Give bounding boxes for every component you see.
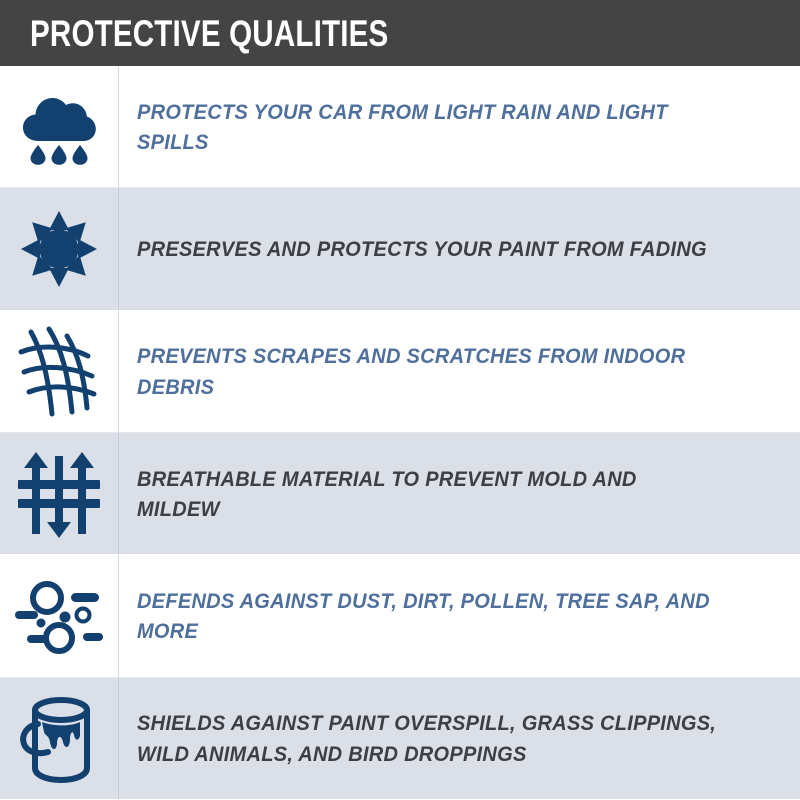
text-cell: PRESERVES AND PROTECTS YOUR PAINT FROM F… [119, 188, 800, 310]
protective-qualities-infographic: PROTECTIVE QUALITIES PROTEC [0, 0, 800, 800]
list-item: PRESERVES AND PROTECTS YOUR PAINT FROM F… [0, 188, 800, 310]
rain-cloud-icon [20, 89, 98, 165]
icon-cell [0, 678, 119, 800]
list-item: PROTECTS YOUR CAR FROM LIGHT RAIN AND LI… [0, 66, 800, 188]
icon-cell [0, 555, 119, 677]
icon-cell [0, 433, 119, 555]
breathability-arrows-icon [16, 450, 102, 538]
feature-text: SHIELDS AGAINST PAINT OVERSPILL, GRASS C… [137, 708, 722, 769]
icon-cell [0, 188, 119, 310]
header-bar: PROTECTIVE QUALITIES [0, 0, 800, 66]
scratch-mesh-icon [16, 324, 102, 420]
list-item: PREVENTS SCRAPES AND SCRATCHES FROM INDO… [0, 311, 800, 433]
list-item: SHIELDS AGAINST PAINT OVERSPILL, GRASS C… [0, 678, 800, 800]
dust-particles-icon [13, 575, 105, 657]
feature-text: BREATHABLE MATERIAL TO PREVENT MOLD AND … [137, 464, 722, 525]
page-title: PROTECTIVE QUALITIES [30, 15, 388, 52]
feature-text: PROTECTS YOUR CAR FROM LIGHT RAIN AND LI… [137, 97, 722, 158]
text-cell: DEFENDS AGAINST DUST, DIRT, POLLEN, TREE… [119, 555, 800, 677]
text-cell: BREATHABLE MATERIAL TO PREVENT MOLD AND … [119, 433, 800, 555]
list-item: BREATHABLE MATERIAL TO PREVENT MOLD AND … [0, 433, 800, 555]
icon-cell [0, 311, 119, 433]
text-cell: PREVENTS SCRAPES AND SCRATCHES FROM INDO… [119, 311, 800, 433]
icon-cell [0, 66, 119, 188]
list-item: DEFENDS AGAINST DUST, DIRT, POLLEN, TREE… [0, 555, 800, 677]
feature-text: PRESERVES AND PROTECTS YOUR PAINT FROM F… [137, 234, 707, 265]
feature-text: PREVENTS SCRAPES AND SCRATCHES FROM INDO… [137, 341, 722, 402]
sun-icon [17, 207, 101, 291]
feature-text: DEFENDS AGAINST DUST, DIRT, POLLEN, TREE… [137, 586, 722, 647]
feature-list: PROTECTS YOUR CAR FROM LIGHT RAIN AND LI… [0, 66, 800, 800]
text-cell: PROTECTS YOUR CAR FROM LIGHT RAIN AND LI… [119, 66, 800, 188]
text-cell: SHIELDS AGAINST PAINT OVERSPILL, GRASS C… [119, 678, 800, 800]
paint-can-icon [18, 692, 100, 786]
